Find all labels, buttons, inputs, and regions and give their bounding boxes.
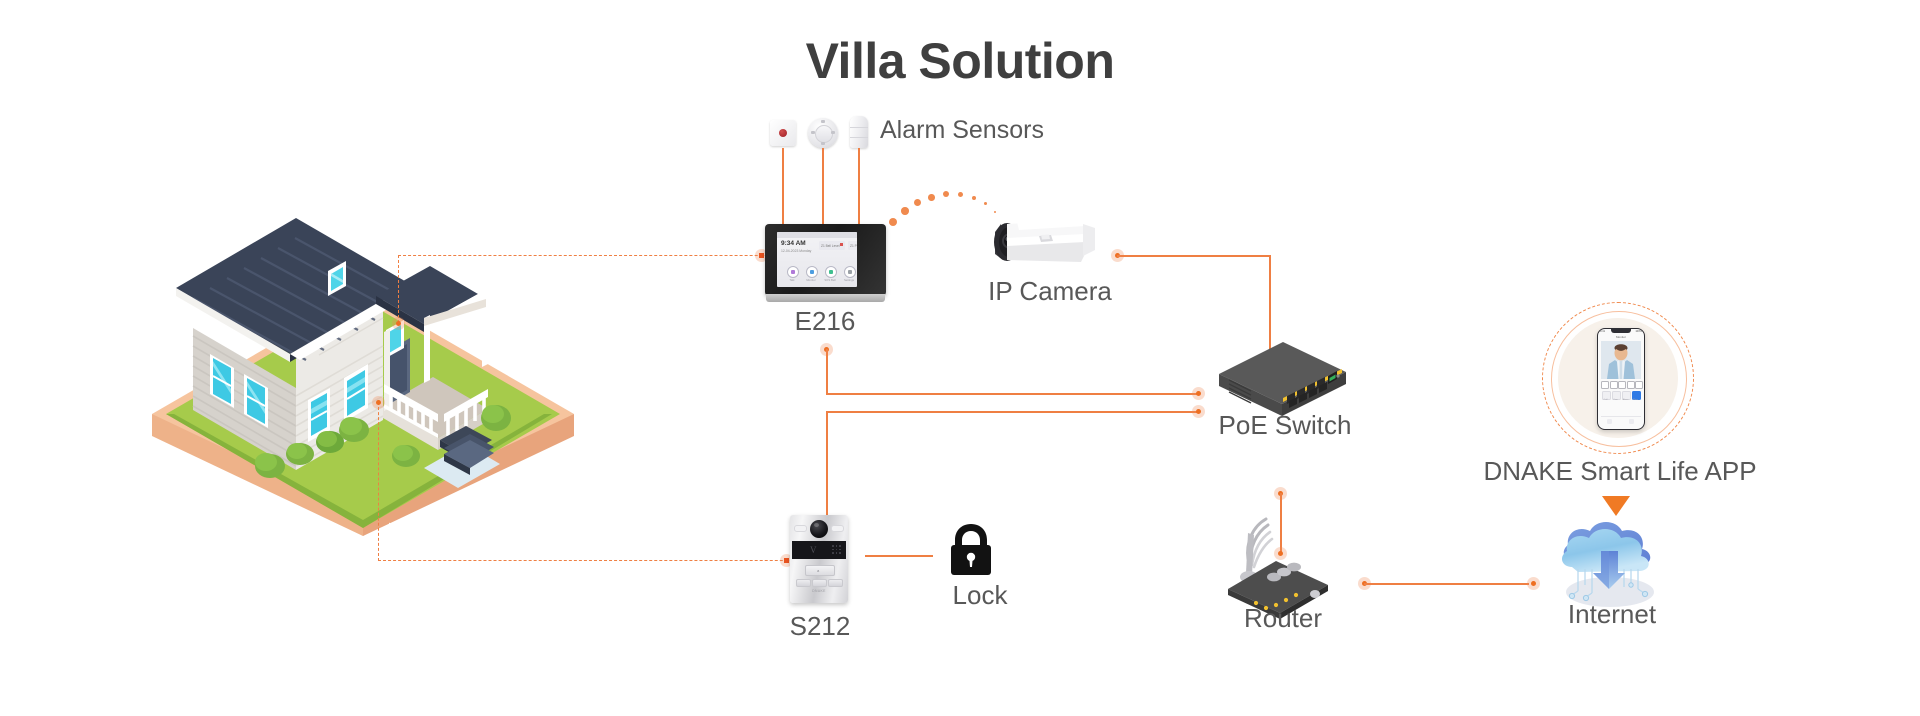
wireless-dot-6 <box>958 192 963 197</box>
s212-led-left <box>794 525 807 532</box>
wireless-dot-7 <box>972 196 976 200</box>
sensor-line-pir <box>858 148 860 226</box>
alarm-sensors-label: Alarm Sensors <box>880 116 1044 145</box>
connector-dot-house-door <box>372 396 385 409</box>
diagram-canvas: Villa Solution <box>0 0 1920 716</box>
e216-icon-sos-label: SOS Bell <box>822 278 838 282</box>
e216-card-1-label: Z1 Bell Level <box>821 244 839 248</box>
connector-house-vertical-top <box>398 255 399 323</box>
s212-brand-text: DNAKE <box>790 589 848 593</box>
e216-stand <box>766 294 885 302</box>
connector-house-to-s212 <box>378 560 828 561</box>
s212-camera-icon <box>810 520 828 538</box>
phone-control-record-icon[interactable] <box>1618 381 1626 389</box>
phone-app-label-3: Alarm <box>1621 399 1630 401</box>
pir-motion-sensor-icon <box>850 116 868 148</box>
wireless-dot-8 <box>984 202 987 205</box>
wireless-dot-4 <box>928 194 935 201</box>
phone-control-hangup-icon[interactable] <box>1635 381 1643 389</box>
connector-e216-to-poe-h <box>826 393 1198 395</box>
ip-camera-label: IP Camera <box>960 276 1140 307</box>
phone-tab-bar[interactable] <box>1601 416 1641 425</box>
phone-tab-profile-icon[interactable] <box>1629 419 1634 424</box>
lock-label: Lock <box>900 580 1060 611</box>
phone-app-label-1: Call <box>1601 399 1610 401</box>
s212-door-station[interactable]: V a DNAKE S212 <box>790 515 870 635</box>
e216-icon-settings[interactable] <box>844 266 856 278</box>
s212-body: V a DNAKE <box>790 515 848 603</box>
phone-video-feed <box>1601 341 1641 379</box>
e216-icon-talk-label: Talk <box>784 278 800 282</box>
s212-call-button-label: a <box>817 568 819 573</box>
e216-card-2[interactable]: Z1 Press Belt <box>848 241 857 250</box>
internet-to-app-arrow-icon <box>1602 496 1630 516</box>
s212-display-glyph: V <box>810 545 817 555</box>
e216-icon-monitor[interactable] <box>806 266 818 278</box>
lock-icon <box>945 522 997 578</box>
phone-call-controls[interactable] <box>1601 381 1641 388</box>
router[interactable]: Router <box>1218 515 1348 635</box>
connector-dot-internet-left <box>1527 577 1540 590</box>
e216-screen[interactable]: 9:34 AM 12-04-2023 Monday Z1 Bell Level … <box>777 232 857 287</box>
phone-control-mute-icon[interactable] <box>1601 381 1609 389</box>
app-label: DNAKE Smart Life APP <box>1425 456 1815 487</box>
phone-app-grid[interactable]: Call Cam Alarm More <box>1601 391 1641 403</box>
phone-app-label-4: More <box>1631 399 1640 401</box>
e216-card-2-label: Z1 Press Belt <box>850 244 857 248</box>
wireless-dot-5 <box>943 191 949 197</box>
e216-icon-sos[interactable] <box>825 266 837 278</box>
smoke-detector-sensor-icon <box>808 118 838 148</box>
poe-switch-label: PoE Switch <box>1180 410 1390 441</box>
ip-camera[interactable]: IP Camera <box>985 210 1115 310</box>
s212-call-button[interactable]: a <box>805 565 835 576</box>
internet-cloud[interactable]: Internet <box>1552 515 1672 635</box>
connector-s212-to-poe-h <box>826 411 1198 413</box>
sensor-line-smoke <box>822 148 824 226</box>
wireless-dot-2 <box>901 207 909 215</box>
e216-icon-talk[interactable] <box>787 266 799 278</box>
e216-icon-row: Talk Monitor SOS Bell Settings <box>777 264 857 286</box>
phone-tab-home-icon[interactable] <box>1607 419 1612 424</box>
e216-icon-settings-label: Settings <box>841 278 857 282</box>
poe-switch-icon <box>1215 340 1350 420</box>
connector-e216-to-poe-v <box>826 349 828 394</box>
connector-s212-to-lock <box>865 555 933 557</box>
e216-card-1[interactable]: Z1 Bell Level <box>819 241 845 250</box>
s212-card-reader-icon <box>832 545 841 555</box>
wireless-dot-3 <box>914 199 921 206</box>
s212-speaker-grille-3 <box>828 579 843 587</box>
alarm-sensors-group: Alarm Sensors <box>770 112 1070 172</box>
page-title: Villa Solution <box>0 32 1920 90</box>
internet-label: Internet <box>1507 599 1717 630</box>
connector-house-vertical-bottom <box>378 402 379 561</box>
phone-control-unlock-icon[interactable] <box>1627 381 1635 389</box>
connector-dot-house-window <box>392 317 405 330</box>
s212-display-band: V <box>792 541 846 559</box>
e216-indoor-monitor[interactable]: 9:34 AM 12-04-2023 Monday Z1 Bell Level … <box>765 224 890 324</box>
s212-led-right <box>831 525 844 532</box>
e216-icon-monitor-label: Monitor <box>803 278 819 282</box>
smartphone[interactable]: 9:41100% Monitor <box>1597 328 1645 430</box>
dnake-smart-life-app[interactable]: 9:41100% Monitor <box>1540 300 1700 460</box>
e216-label: E216 <box>745 306 905 337</box>
connector-router-to-internet <box>1364 583 1529 585</box>
sensor-line-panic <box>782 148 784 226</box>
e216-date: 12-04-2023 Monday <box>781 250 811 253</box>
phone-app-label-2: Cam <box>1611 399 1620 401</box>
connector-ip-camera-to-poe-h <box>1117 255 1270 257</box>
wireless-dot-1 <box>889 218 897 226</box>
poe-switch[interactable]: PoE Switch <box>1215 340 1355 450</box>
panic-button-sensor-icon <box>770 120 796 146</box>
s212-speaker-grille-2 <box>812 579 827 587</box>
villa-house-illustration <box>148 168 578 538</box>
phone-app-title: Monitor <box>1598 335 1644 340</box>
s212-label: S212 <box>740 611 900 642</box>
e216-clock: 9:34 AM <box>781 241 806 248</box>
lock[interactable]: Lock <box>945 522 1015 612</box>
connector-endpoint-e216-poe <box>1192 387 1205 400</box>
ip-camera-icon <box>985 210 1105 272</box>
e216-status-bar <box>777 232 857 238</box>
s212-speaker-grille-1 <box>796 579 811 587</box>
phone-control-snapshot-icon[interactable] <box>1610 381 1618 389</box>
router-label: Router <box>1178 603 1388 634</box>
